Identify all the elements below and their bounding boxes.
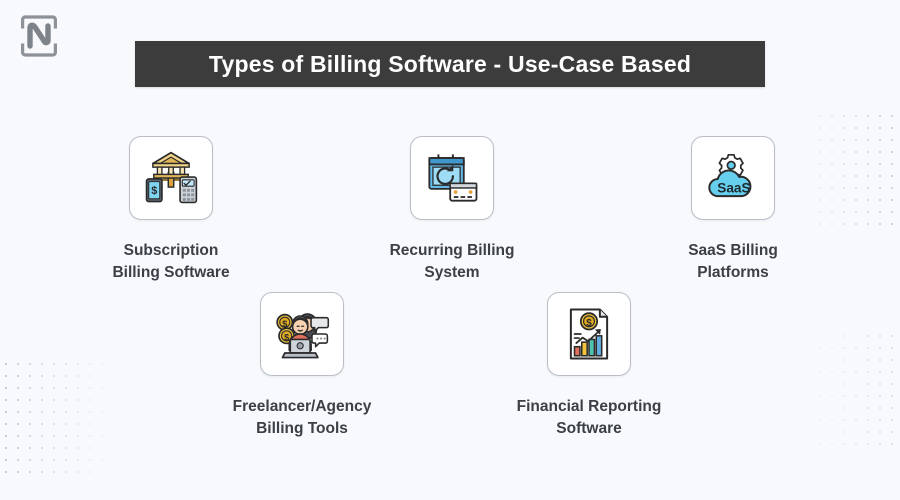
item-financial-reporting-software[interactable]: $ Financial Reporting Software	[489, 292, 689, 441]
item-subscription-billing-software[interactable]: $ Subscription Billing Software	[71, 136, 271, 285]
bank-phone-calculator-icon: $	[142, 149, 200, 207]
svg-text:$: $	[151, 185, 157, 197]
item-label: Financial Reporting Software	[517, 396, 662, 441]
dot-grid-right-lower	[790, 330, 900, 445]
svg-text:SaaS: SaaS	[717, 181, 750, 196]
item-saas-billing-platforms[interactable]: SaaS SaaS Billing Platforms	[633, 136, 833, 285]
item-label: Freelancer/Agency Billing Tools	[233, 396, 372, 441]
calendar-refresh-card-icon	[423, 149, 481, 207]
item-label: Recurring Billing System	[390, 240, 515, 285]
svg-text:$: $	[586, 318, 592, 329]
item-recurring-billing-system[interactable]: Recurring Billing System	[352, 136, 552, 285]
icon-card[interactable]: SaaS	[691, 136, 775, 220]
document-chart-coin-icon: $	[560, 305, 618, 363]
item-freelancer-agency-billing-tools[interactable]: $ $ Freelancer/Agency Billing Too	[202, 292, 402, 441]
item-label: Subscription Billing Software	[112, 240, 229, 285]
icon-card[interactable]	[410, 136, 494, 220]
dot-grid-bottom-left	[0, 358, 118, 476]
icon-card[interactable]: $	[547, 292, 631, 376]
slide-canvas: Types of Billing Software - Use-Case Bas…	[0, 0, 900, 500]
icon-card[interactable]: $	[129, 136, 213, 220]
freelancer-laptop-coins-icon: $ $	[273, 305, 331, 363]
icon-card[interactable]: $ $	[260, 292, 344, 376]
page-title: Types of Billing Software - Use-Case Bas…	[209, 51, 691, 78]
svg-text:$: $	[282, 319, 287, 329]
title-banner: Types of Billing Software - Use-Case Bas…	[135, 41, 765, 87]
cloud-gear-saas-icon: SaaS	[704, 149, 762, 207]
item-label: SaaS Billing Platforms	[688, 240, 778, 285]
brand-logo	[19, 14, 59, 58]
svg-text:$: $	[284, 332, 289, 342]
